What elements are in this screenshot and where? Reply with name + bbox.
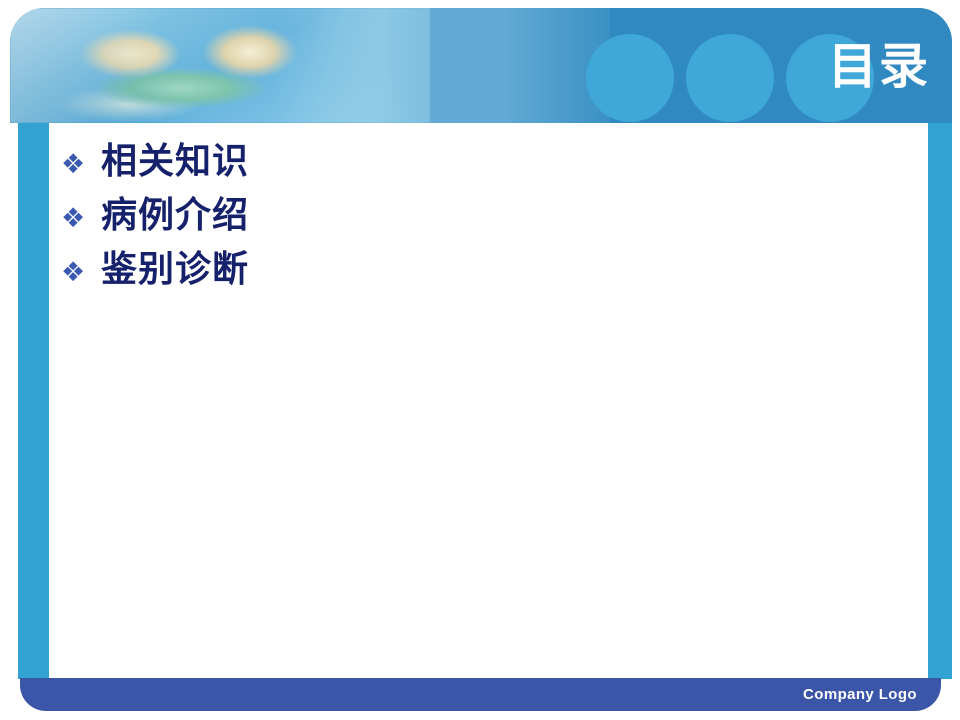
agenda-list: ❖ 相关知识 ❖ 病例介绍 ❖ 鉴别诊断 [61, 144, 881, 306]
list-item[interactable]: ❖ 病例介绍 [61, 198, 881, 252]
slide-title: 目录 [828, 34, 930, 100]
slide-content-area: ❖ 相关知识 ❖ 病例介绍 ❖ 鉴别诊断 [49, 130, 909, 670]
list-item-label: 病例介绍 [101, 198, 249, 234]
list-item[interactable]: ❖ 相关知识 [61, 144, 881, 198]
slide-header-band: 目录 [10, 8, 952, 123]
slide-canvas: 目录 ❖ 相关知识 ❖ 病例介绍 ❖ 鉴别诊断 Company Logo [0, 0, 960, 720]
left-accent-stripe [18, 123, 49, 679]
company-logo-text: Company Logo [803, 678, 917, 711]
diamond-bullet-icon: ❖ [61, 205, 101, 232]
right-accent-stripe [928, 123, 952, 679]
list-item[interactable]: ❖ 鉴别诊断 [61, 252, 881, 306]
header-decor-circle-2 [686, 34, 774, 122]
slide-footer-bar: Company Logo [20, 678, 941, 711]
diamond-bullet-icon: ❖ [61, 151, 101, 178]
list-item-label: 相关知识 [101, 144, 249, 180]
diamond-bullet-icon: ❖ [61, 259, 101, 286]
header-decor-circle-1 [586, 34, 674, 122]
list-item-label: 鉴别诊断 [101, 252, 249, 288]
